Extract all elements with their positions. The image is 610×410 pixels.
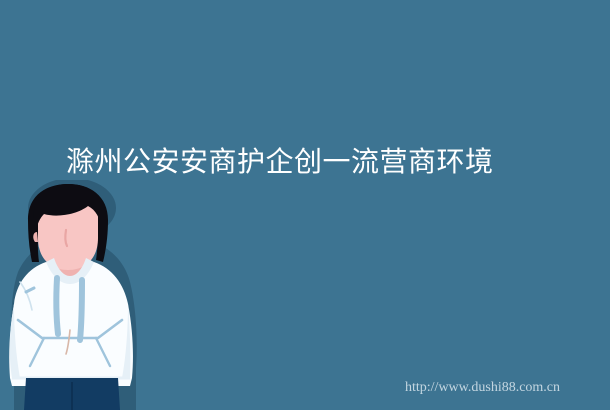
illustration-young-man-in-hoodie (0, 180, 150, 410)
promo-banner: 滁州公安安商护企创一流营商环境 http://www.dushi88.com.c… (0, 0, 610, 410)
source-watermark: http://www.dushi88.com.cn (405, 379, 560, 397)
drawstring-left (56, 278, 58, 334)
page-title: 滁州公安安商护企创一流营商环境 (66, 143, 566, 181)
drawstring-right (80, 280, 82, 340)
